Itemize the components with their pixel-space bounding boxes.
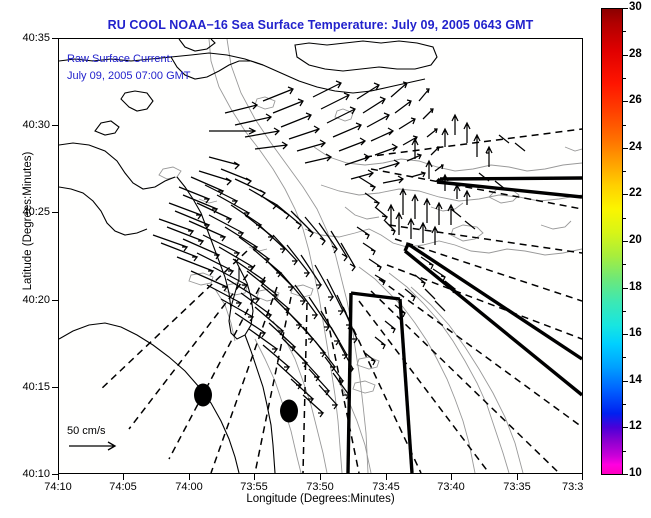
y-tick-label: 40:15 [2, 381, 50, 393]
colorbar-label: 10 [629, 467, 642, 479]
y-tick-mark [52, 474, 58, 475]
colorbar-gradient [601, 8, 623, 475]
x-tick-mark [58, 474, 59, 480]
x-tick-label: 74:00 [161, 481, 217, 493]
colorbar-tick-mark [623, 381, 628, 382]
radar-station-marker [280, 400, 298, 423]
x-tick-mark [123, 474, 124, 480]
colorbar-label: 14 [629, 374, 642, 386]
colorbar-tick-mark [623, 427, 628, 428]
colorbar-label: 22 [629, 187, 642, 199]
x-axis-title: Longitude (Degrees:Minutes) [58, 493, 583, 505]
colorbar-label: 28 [629, 48, 642, 60]
colorbar-tick-mark [623, 194, 628, 195]
annotation-line-2: July 09, 2005 07:00 GMT [67, 68, 191, 85]
x-tick-label: 73:45 [358, 481, 414, 493]
colorbar-tick-mark-minor [623, 31, 626, 32]
x-tick-mark [451, 474, 452, 480]
y-tick-mark [52, 300, 58, 301]
y-tick-label: 40:10 [2, 468, 50, 480]
colorbar-tick-mark-minor [623, 264, 626, 265]
colorbar-label: 30 [629, 1, 642, 13]
colorbar-tick-mark [623, 101, 628, 102]
colorbar-tick-mark-minor [623, 125, 626, 126]
x-tick-mark [582, 474, 583, 480]
radar-radial-beams [99, 129, 582, 473]
colorbar-tick-mark [623, 8, 628, 9]
colorbar-tick-mark [623, 474, 628, 475]
sst-map-figure: RU COOL NOAA−16 Sea Surface Temperature:… [0, 0, 651, 518]
colorbar-tick-mark-minor [623, 451, 626, 452]
y-tick-mark [52, 387, 58, 388]
x-tick-mark [320, 474, 321, 480]
x-tick-label: 73:3 [562, 481, 602, 493]
surface-current-vectors [153, 81, 525, 417]
figure-title: RU COOL NOAA−16 Sea Surface Temperature:… [58, 18, 583, 32]
colorbar-label: 12 [629, 420, 642, 432]
bathymetry-contours [159, 39, 582, 473]
colorbar-tick-mark-minor [623, 218, 626, 219]
x-tick-mark [517, 474, 518, 480]
x-tick-mark [189, 474, 190, 480]
colorbar-tick-mark-minor [623, 171, 626, 172]
map-graphics [59, 39, 582, 473]
annotation-line-1: Raw Surface Current: [67, 51, 191, 68]
colorbar-tick-mark [623, 288, 628, 289]
colorbar-tick-mark-minor [623, 357, 626, 358]
y-tick-mark [52, 125, 58, 126]
y-tick-mark [52, 212, 58, 213]
colorbar-label: 24 [629, 141, 642, 153]
colorbar[interactable] [601, 8, 623, 475]
colorbar-label: 26 [629, 94, 642, 106]
x-tick-mark [386, 474, 387, 480]
colorbar-tick-mark-minor [623, 404, 626, 405]
current-annotation: Raw Surface Current: July 09, 2005 07:00… [67, 51, 191, 85]
y-tick-mark [52, 38, 58, 39]
y-axis-title: Latitude (Degrees:Minutes) [22, 101, 34, 341]
x-tick-label: 73:50 [292, 481, 348, 493]
vector-scale-label: 50 cm/s [67, 425, 121, 437]
y-tick-label: 40:35 [2, 32, 50, 44]
colorbar-tick-mark [623, 148, 628, 149]
x-tick-label: 73:55 [226, 481, 282, 493]
x-tick-label: 74:10 [30, 481, 86, 493]
vector-scale-arrow-icon [67, 440, 121, 452]
colorbar-label: 20 [629, 234, 642, 246]
coastline [59, 39, 437, 473]
colorbar-tick-mark [623, 241, 628, 242]
vector-scale-legend: 50 cm/s [67, 425, 121, 457]
colorbar-label: 18 [629, 281, 642, 293]
radar-station-marker [194, 384, 212, 407]
colorbar-tick-mark [623, 55, 628, 56]
x-tick-label: 73:35 [489, 481, 545, 493]
colorbar-tick-mark-minor [623, 78, 626, 79]
x-tick-mark [254, 474, 255, 480]
colorbar-tick-mark [623, 334, 628, 335]
x-tick-label: 73:40 [423, 481, 479, 493]
map-plot-area[interactable]: Raw Surface Current: July 09, 2005 07:00… [58, 38, 583, 474]
colorbar-tick-mark-minor [623, 311, 626, 312]
colorbar-label: 16 [629, 327, 642, 339]
x-tick-label: 74:05 [95, 481, 151, 493]
